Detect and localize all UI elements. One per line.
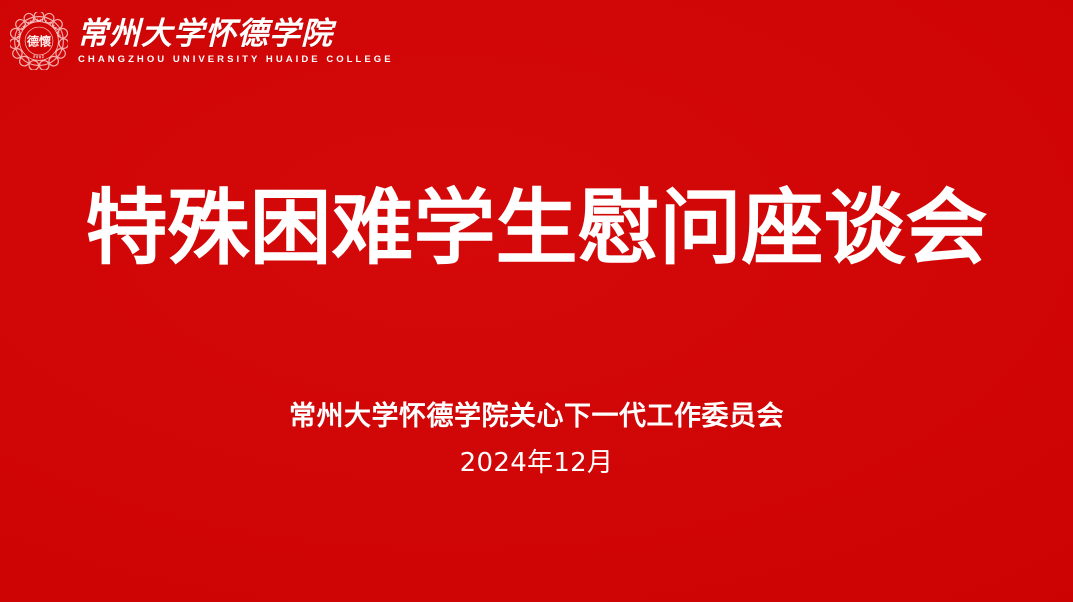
college-logo: CHANGZHOU UNIVERSITY HUAIDE COLLEGE 2002…	[9, 10, 339, 72]
college-name-english: CHANGZHOU UNIVERSITY HUAIDE COLLEGE	[78, 54, 394, 66]
seal-rim-bottom-text: 2002	[32, 53, 45, 59]
presentation-slide: CHANGZHOU UNIVERSITY HUAIDE COLLEGE 2002…	[0, 0, 1073, 602]
svg-text:2002: 2002	[32, 53, 45, 59]
organization-name: 常州大学怀德学院关心下一代工作委员会	[0, 398, 1073, 436]
slide-subtitle-block: 常州大学怀德学院关心下一代工作委员会 2024年12月	[0, 398, 1073, 480]
seal-center-text: 德懷	[26, 34, 52, 49]
college-name-chinese: 常州大学怀德学院	[77, 16, 333, 52]
slide-date: 2024年12月	[0, 446, 1073, 480]
slide-title: 特殊困难学生慰问座谈会	[0, 177, 1073, 281]
university-seal-icon: CHANGZHOU UNIVERSITY HUAIDE COLLEGE 2002…	[10, 12, 68, 70]
